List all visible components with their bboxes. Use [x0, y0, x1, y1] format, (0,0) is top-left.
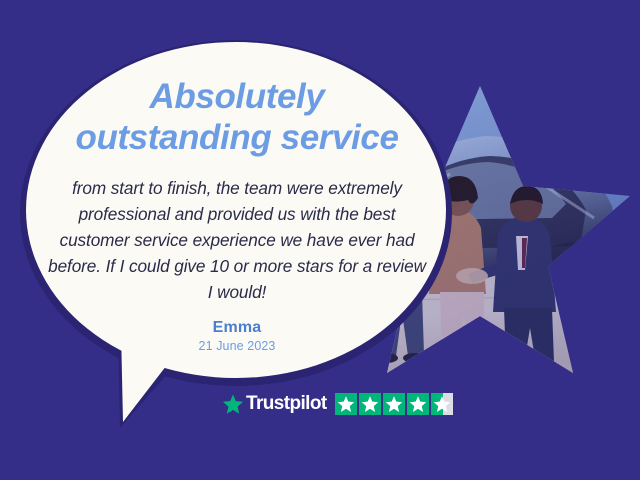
trustpilot-star-row[interactable]: [335, 393, 453, 415]
trustpilot-star-1: [335, 393, 357, 415]
trustpilot-star-4: [407, 393, 429, 415]
trustpilot-star-icon: [222, 393, 244, 415]
trustpilot-logo[interactable]: Trustpilot: [222, 393, 327, 415]
trustpilot-star-2: [359, 393, 381, 415]
trustpilot-star-5: [431, 393, 453, 415]
testimonial-graphic: Absolutely outstanding service from star…: [0, 0, 640, 480]
author-name: Emma: [38, 319, 436, 337]
author-date: 21 June 2023: [38, 339, 436, 353]
testimonial-body: from start to finish, the team were extr…: [38, 175, 436, 306]
trustpilot-rating[interactable]: Trustpilot: [222, 391, 453, 417]
trustpilot-star-3: [383, 393, 405, 415]
testimonial-headline: Absolutely outstanding service: [38, 76, 436, 159]
trustpilot-wordmark: Trustpilot: [246, 393, 327, 415]
testimonial-content: Absolutely outstanding service from star…: [38, 76, 436, 353]
